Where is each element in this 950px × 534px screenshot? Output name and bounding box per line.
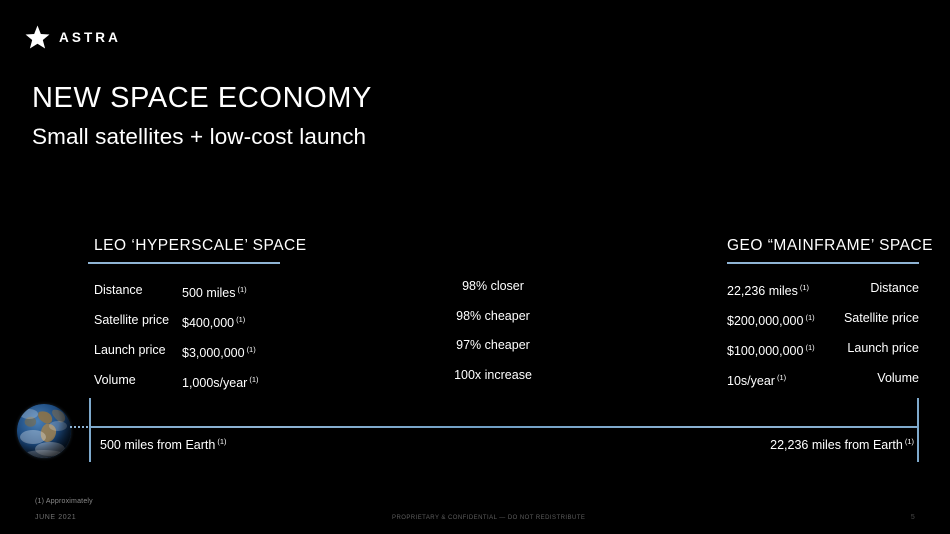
footer-confidentiality-notice: PROPRIETARY & CONFIDENTIAL — DO NOT REDI… <box>392 515 585 521</box>
comparison-launch-price: 97% cheaper <box>398 331 588 361</box>
comparison-volume: 100x increase <box>398 361 588 391</box>
axis-tick-right <box>917 398 919 462</box>
footnote-marker: (1) <box>238 285 247 294</box>
leo-value-volume: 1,000s/year(1) <box>182 365 259 398</box>
geo-value-launch-price: $100,000,000(1) <box>727 333 815 366</box>
footnote-marker: (1) <box>905 437 914 446</box>
leo-heading-rule <box>88 262 280 264</box>
axis-label-geo: 22,236 miles from Earth(1) <box>770 437 914 452</box>
axis-tick-left <box>89 398 91 462</box>
geo-label-distance: Distance <box>870 273 919 303</box>
footnote-marker: (1) <box>247 345 256 354</box>
geo-row-volume: 10s/year(1) Volume <box>727 363 919 393</box>
leo-row-launch-price: Launch price $3,000,000(1) <box>94 335 309 365</box>
leo-label-satellite-price: Satellite price <box>94 305 169 335</box>
comparison-satellite-price: 98% cheaper <box>398 302 588 332</box>
geo-value-distance: 22,236 miles(1) <box>727 273 809 306</box>
geo-value-satellite-price: $200,000,000(1) <box>727 303 815 336</box>
axis-label-leo: 500 miles from Earth(1) <box>100 437 227 452</box>
leo-spec-list: Distance 500 miles(1) Satellite price $4… <box>94 275 309 395</box>
footnote-marker: (1) <box>249 375 258 384</box>
page-title: NEW SPACE ECONOMY <box>32 83 372 115</box>
footer-date: JUNE 2021 <box>35 514 76 521</box>
footnote-text: (1) Approximately <box>35 498 93 505</box>
geo-label-satellite-price: Satellite price <box>844 303 919 333</box>
astra-logo: ASTRA <box>25 25 121 50</box>
footnote-marker: (1) <box>217 437 226 446</box>
geo-column-heading: GEO “MAINFRAME’ SPACE <box>727 237 933 255</box>
comparison-column: 98% closer 98% cheaper 97% cheaper 100x … <box>398 272 588 390</box>
footnote-marker: (1) <box>777 373 786 382</box>
leo-row-volume: Volume 1,000s/year(1) <box>94 365 309 395</box>
comparison-distance: 98% closer <box>398 272 588 302</box>
leo-row-distance: Distance 500 miles(1) <box>94 275 309 305</box>
geo-row-distance: 22,236 miles(1) Distance <box>727 273 919 303</box>
leo-label-volume: Volume <box>94 365 136 395</box>
logo-wordmark: ASTRA <box>59 30 121 45</box>
footnote-marker: (1) <box>800 283 809 292</box>
page-number: 5 <box>911 514 915 521</box>
leo-label-launch-price: Launch price <box>94 335 166 365</box>
leo-value-launch-price: $3,000,000(1) <box>182 335 256 368</box>
earth-axis-connector <box>70 426 90 428</box>
leo-value-satellite-price: $400,000(1) <box>182 305 245 338</box>
footnote-marker: (1) <box>805 313 814 322</box>
earth-globe-icon <box>17 404 71 458</box>
geo-value-volume: 10s/year(1) <box>727 363 786 396</box>
slide-canvas: ASTRA NEW SPACE ECONOMY Small satellites… <box>0 0 950 534</box>
leo-column-heading: LEO ‘HYPERSCALE’ SPACE <box>94 237 307 255</box>
footnote-marker: (1) <box>805 343 814 352</box>
geo-row-satellite-price: $200,000,000(1) Satellite price <box>727 303 919 333</box>
leo-value-distance: 500 miles(1) <box>182 275 247 308</box>
geo-spec-list: 22,236 miles(1) Distance $200,000,000(1)… <box>727 273 919 393</box>
footnote-marker: (1) <box>236 315 245 324</box>
geo-heading-rule <box>727 262 919 264</box>
page-subtitle: Small satellites + low-cost launch <box>32 123 366 150</box>
geo-row-launch-price: $100,000,000(1) Launch price <box>727 333 919 363</box>
star-icon <box>25 25 50 50</box>
geo-label-launch-price: Launch price <box>847 333 919 363</box>
leo-label-distance: Distance <box>94 275 143 305</box>
distance-axis-line <box>89 426 919 428</box>
geo-label-volume: Volume <box>877 363 919 393</box>
leo-row-satellite-price: Satellite price $400,000(1) <box>94 305 309 335</box>
